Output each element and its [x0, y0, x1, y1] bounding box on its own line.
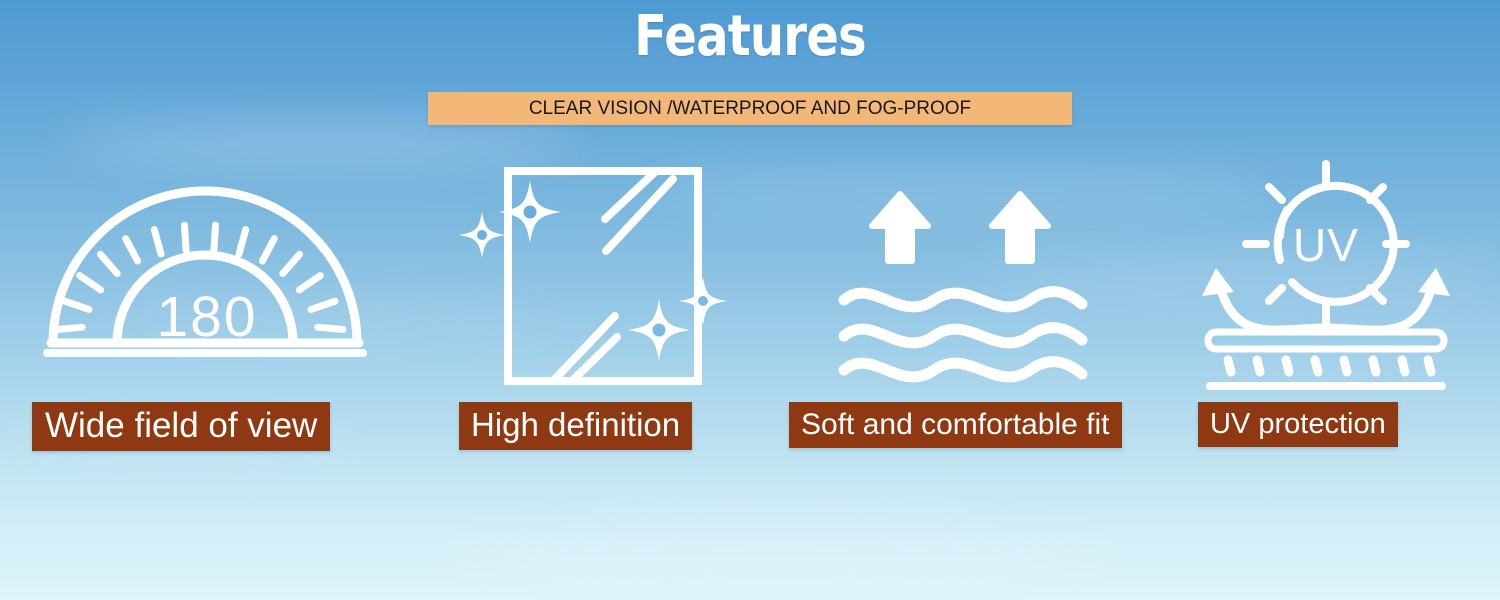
- protractor-value-text: 180: [156, 285, 257, 349]
- feature-label-wide-field-of-view: Wide field of view: [32, 402, 330, 451]
- breathable-waves-icon-wrap: [775, 150, 1150, 402]
- breathable-waves-icon: [838, 176, 1088, 376]
- features-banner: Features CLEAR VISION /WATERPROOF AND FO…: [0, 0, 1500, 600]
- protractor-icon: 180: [45, 191, 375, 361]
- glass-sparkle-icon-wrap: [430, 150, 760, 402]
- glass-sparkle-icon: [460, 159, 730, 394]
- uv-label-text: UV: [1293, 219, 1359, 271]
- wave-line-group: [844, 292, 1082, 377]
- page-title: Features: [105, 2, 1395, 72]
- subtitle-text: CLEAR VISION /WATERPROOF AND FOG-PROOF: [529, 98, 971, 120]
- uv-shield-icon-wrap: UV: [1160, 150, 1490, 402]
- feature-uv-protection: UV: [1160, 150, 1490, 447]
- label-row: Wide field of view: [10, 402, 410, 451]
- cloud-wisp: [430, 520, 1130, 580]
- subtitle-banner: CLEAR VISION /WATERPROOF AND FOG-PROOF: [428, 92, 1072, 125]
- feature-wide-field-of-view: 180 Wide field of view: [10, 150, 410, 451]
- fabric-layer-group: [1208, 332, 1444, 386]
- feature-high-definition: High definition: [430, 150, 760, 450]
- arrowhead-group: [1202, 268, 1450, 296]
- feature-label-high-definition: High definition: [459, 402, 692, 450]
- feature-label-soft-comfortable-fit: Soft and comfortable fit: [789, 402, 1122, 448]
- label-row: Soft and comfortable fit: [775, 402, 1150, 448]
- feature-label-uv-protection: UV protection: [1198, 402, 1398, 447]
- protractor-icon-wrap: 180: [10, 150, 410, 402]
- label-row: UV protection: [1160, 402, 1490, 447]
- uv-shield-icon: UV: [1200, 156, 1450, 396]
- feature-soft-comfortable-fit: Soft and comfortable fit: [775, 150, 1150, 448]
- up-arrow-group: [872, 194, 1048, 261]
- label-row: High definition: [430, 402, 760, 450]
